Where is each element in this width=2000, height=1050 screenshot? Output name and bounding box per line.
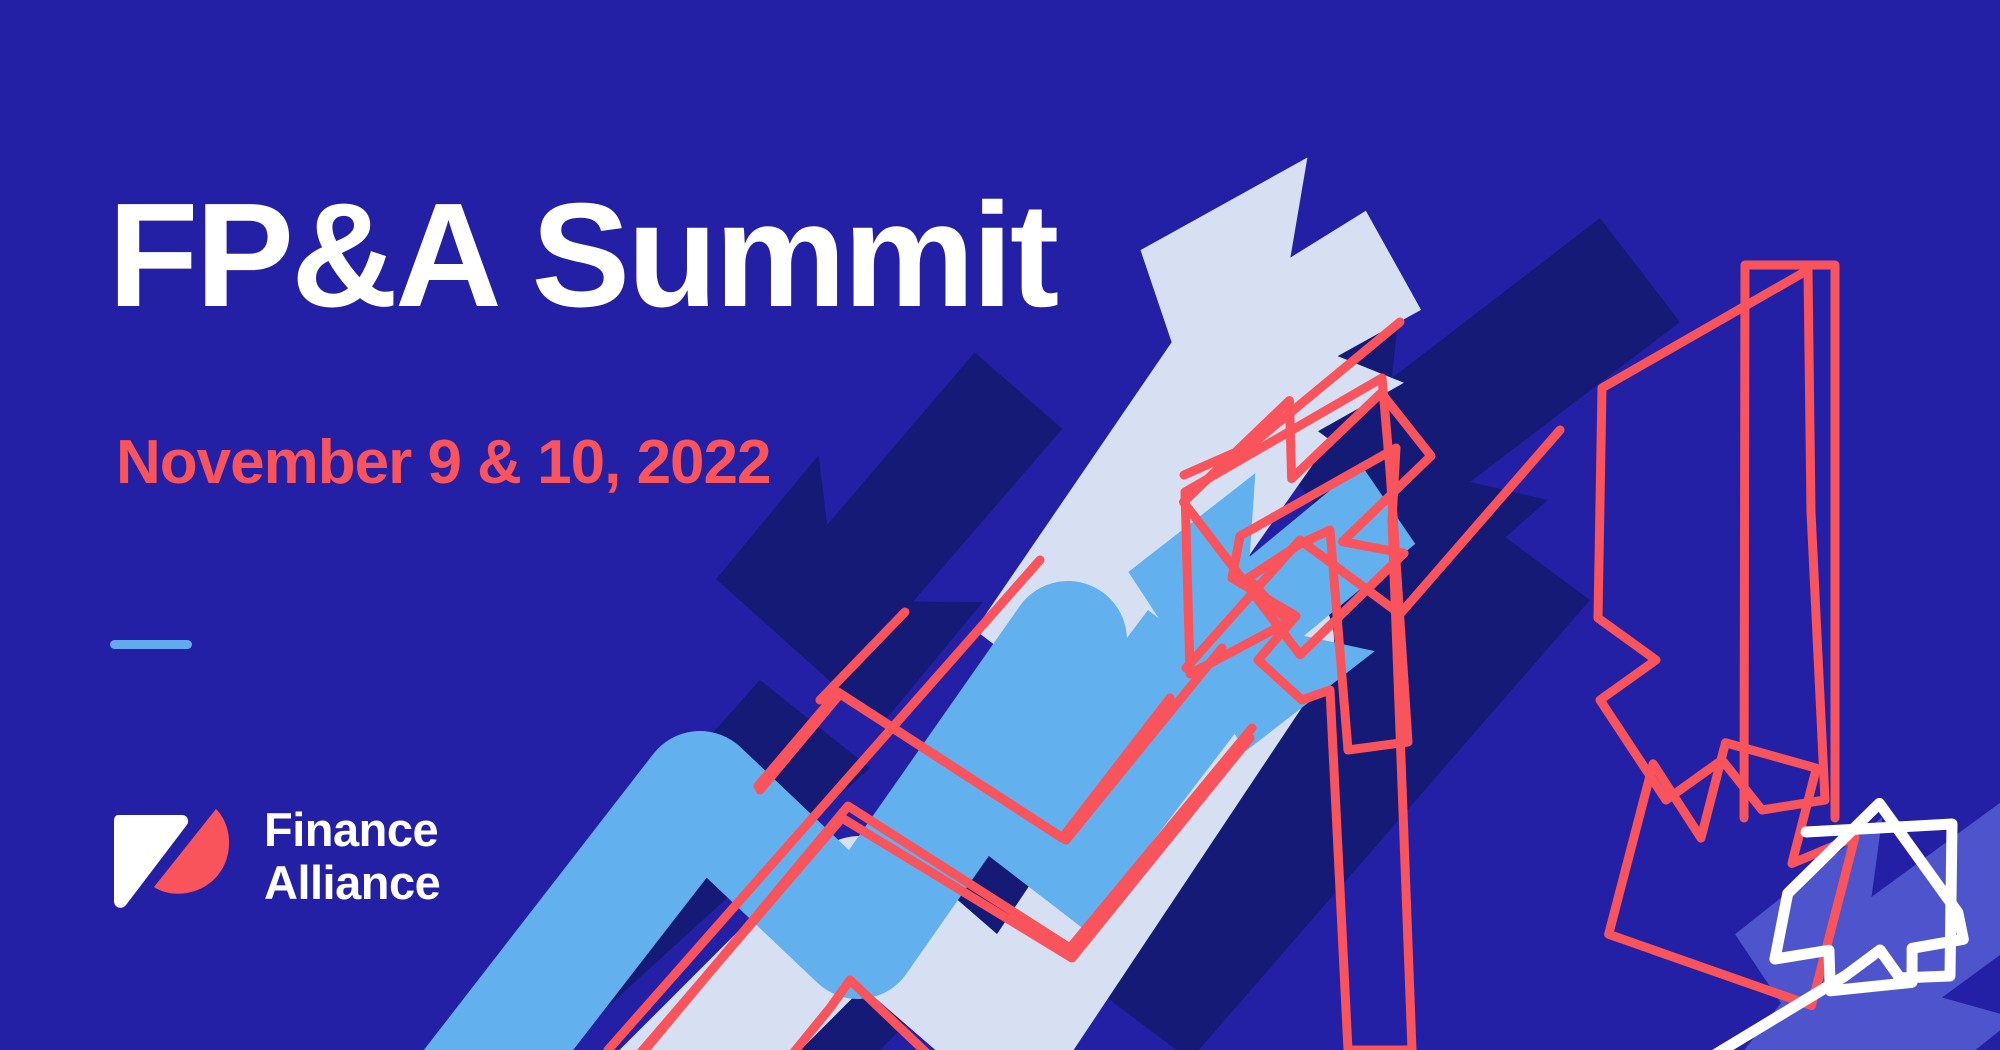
event-date: November 9 & 10, 2022 (116, 432, 771, 494)
page-title: FP&A Summit (108, 182, 1056, 330)
event-banner: FP&A Summit November 9 & 10, 2022 Financ… (0, 0, 2000, 1050)
brand-name-line1: Finance (264, 803, 440, 856)
brand-logo[interactable]: Finance Alliance (108, 795, 440, 917)
finance-alliance-logo-mark-icon (108, 795, 236, 917)
brand-logo-text: Finance Alliance (264, 803, 440, 909)
brand-name-line2: Alliance (264, 856, 440, 909)
accent-divider (110, 640, 192, 649)
